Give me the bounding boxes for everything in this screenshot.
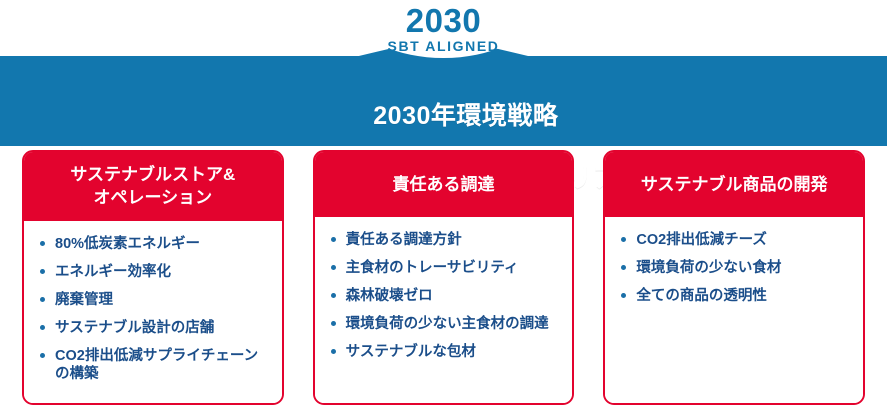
list-item: CO2排出低減チーズ bbox=[619, 231, 853, 249]
bullet-list-2: 責任ある調達方針 主食材のトレーサビリティ 森林破壊ゼロ 環境負荷の少ない主食材… bbox=[329, 231, 563, 361]
list-item: 廃棄管理 bbox=[38, 291, 272, 309]
badge-year-label: 2030 bbox=[0, 4, 887, 37]
bullet-dot-icon bbox=[621, 265, 626, 270]
list-item: 環境負荷の少ない主食材の調達 bbox=[329, 315, 563, 333]
list-item: 80%低炭素エネルギー bbox=[38, 235, 272, 253]
bullet-label: エネルギー効率化 bbox=[55, 264, 171, 280]
card-header-2: 責任ある調達 bbox=[315, 152, 573, 217]
focus-area-card-sustainable-products[interactable]: サステナブル商品の開発 CO2排出低減チーズ 環境負荷の少ない食材 全ての商品の… bbox=[603, 150, 865, 405]
infographic-root: 2030 SBT ALIGNED 2030年環境戦略 3つのフォーカス・エリア … bbox=[0, 0, 887, 416]
list-item: 環境負荷の少ない食材 bbox=[619, 259, 853, 277]
bullet-dot-icon bbox=[331, 293, 336, 298]
focus-area-cards: サステナブルストア& オペレーション 80%低炭素エネルギー エネルギー効率化 … bbox=[22, 150, 865, 405]
focus-area-card-responsible-sourcing[interactable]: 責任ある調達 責任ある調達方針 主食材のトレーサビリティ 森林破壊ゼロ bbox=[313, 150, 575, 405]
focus-area-card-sustainable-store[interactable]: サステナブルストア& オペレーション 80%低炭素エネルギー エネルギー効率化 … bbox=[22, 150, 284, 405]
bullet-dot-icon bbox=[331, 265, 336, 270]
bullet-label: サステナブル設計の店舗 bbox=[55, 320, 214, 336]
bullet-dot-icon bbox=[40, 241, 45, 246]
list-item: サステナブル設計の店舗 bbox=[38, 319, 272, 337]
bullet-label: 環境負荷の少ない食材 bbox=[636, 260, 781, 276]
badge-subtitle-label: SBT ALIGNED bbox=[0, 38, 887, 54]
bullet-label: 80%低炭素エネルギー bbox=[55, 236, 200, 252]
bullet-dot-icon bbox=[40, 269, 45, 274]
card-header-3: サステナブル商品の開発 bbox=[605, 152, 863, 217]
bullet-dot-icon bbox=[40, 353, 45, 358]
list-item: 全ての商品の透明性 bbox=[619, 287, 853, 305]
bullet-label: CO2排出低減チーズ bbox=[636, 232, 767, 248]
list-item: エネルギー効率化 bbox=[38, 263, 272, 281]
roof-title-line1: 2030年環境戦略 bbox=[373, 102, 558, 130]
bullet-list-1: 80%低炭素エネルギー エネルギー効率化 廃棄管理 サステナブル設計の店舗 bbox=[38, 235, 272, 383]
bullet-dot-icon bbox=[621, 293, 626, 298]
bullet-dot-icon bbox=[331, 321, 336, 326]
bullet-label: CO2排出低減サプライチェーンの構築 bbox=[55, 348, 258, 382]
card-header-1: サステナブルストア& オペレーション bbox=[24, 152, 282, 221]
card-body-1: 80%低炭素エネルギー エネルギー効率化 廃棄管理 サステナブル設計の店舗 bbox=[24, 221, 282, 403]
list-item: CO2排出低減サプライチェーンの構築 bbox=[38, 347, 272, 383]
bullet-label: 森林破壊ゼロ bbox=[346, 288, 433, 304]
list-item: 森林破壊ゼロ bbox=[329, 287, 563, 305]
bullet-label: 責任ある調達方針 bbox=[346, 232, 462, 248]
bullet-label: サステナブルな包材 bbox=[346, 344, 476, 360]
bullet-label: 全ての商品の透明性 bbox=[636, 288, 767, 304]
list-item: サステナブルな包材 bbox=[329, 343, 563, 361]
card-body-3: CO2排出低減チーズ 環境負荷の少ない食材 全ての商品の透明性 bbox=[605, 217, 863, 403]
bullet-dot-icon bbox=[331, 237, 336, 242]
sbt-badge: 2030 SBT ALIGNED bbox=[0, 4, 887, 54]
bullet-label: 主食材のトレーサビリティ bbox=[346, 260, 519, 276]
list-item: 責任ある調達方針 bbox=[329, 231, 563, 249]
roof-banner: 2030 SBT ALIGNED 2030年環境戦略 3つのフォーカス・エリア bbox=[0, 0, 887, 146]
card-body-2: 責任ある調達方針 主食材のトレーサビリティ 森林破壊ゼロ 環境負荷の少ない主食材… bbox=[315, 217, 573, 403]
bullet-dot-icon bbox=[331, 349, 336, 354]
bullet-dot-icon bbox=[40, 325, 45, 330]
bullet-label: 環境負荷の少ない主食材の調達 bbox=[346, 316, 549, 332]
bullet-list-3: CO2排出低減チーズ 環境負荷の少ない食材 全ての商品の透明性 bbox=[619, 231, 853, 305]
bullet-dot-icon bbox=[40, 297, 45, 302]
bullet-dot-icon bbox=[621, 237, 626, 242]
list-item: 主食材のトレーサビリティ bbox=[329, 259, 563, 277]
bullet-label: 廃棄管理 bbox=[55, 292, 113, 308]
